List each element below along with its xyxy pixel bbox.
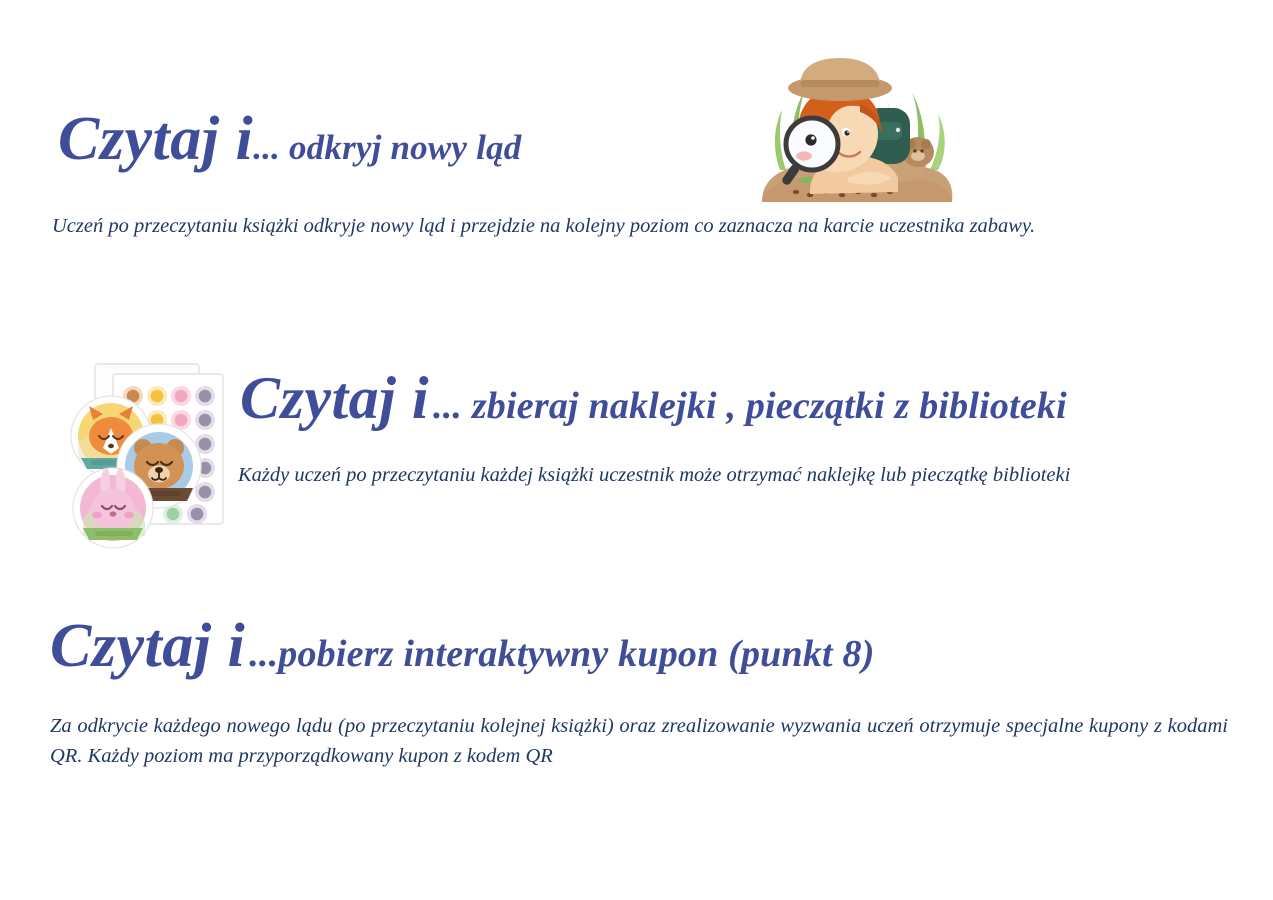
- sticker-rabbit: [73, 468, 153, 548]
- document-page: Czytaj i... odkryj nowy ląd Uczeń po prz…: [0, 0, 1273, 900]
- section-2-heading-sub: ... zbieraj naklejki , pieczątki z bibli…: [433, 385, 1067, 427]
- section-2-body: Każdy uczeń po przeczytaniu każdej książ…: [238, 461, 1238, 491]
- section-3-heading-main: Czytaj i: [50, 612, 245, 680]
- section-1-body: Uczeń po przeczytaniu książki odkryje no…: [52, 212, 1227, 242]
- sticker-sheets-illustration: [55, 356, 235, 554]
- section-1-heading: Czytaj i... odkryj nowy ląd: [58, 108, 521, 170]
- section-2-heading: Czytaj i ... zbieraj naklejki , pieczątk…: [240, 368, 1067, 428]
- section-3-body: Za odkrycie każdego nowego lądu (po prze…: [50, 712, 1228, 771]
- section-3-heading: Czytaj i ...pobierz interaktywny kupon (…: [50, 615, 875, 677]
- section-2-heading-main: Czytaj i: [240, 365, 429, 431]
- section-1-heading-main: Czytaj i: [58, 105, 253, 173]
- explorer-child-with-magnifying-glass-illustration: [752, 52, 962, 204]
- section-1-heading-sub: ... odkryj nowy ląd: [253, 128, 521, 167]
- section-3-heading-sub: ...pobierz interaktywny kupon (punkt 8): [249, 633, 874, 675]
